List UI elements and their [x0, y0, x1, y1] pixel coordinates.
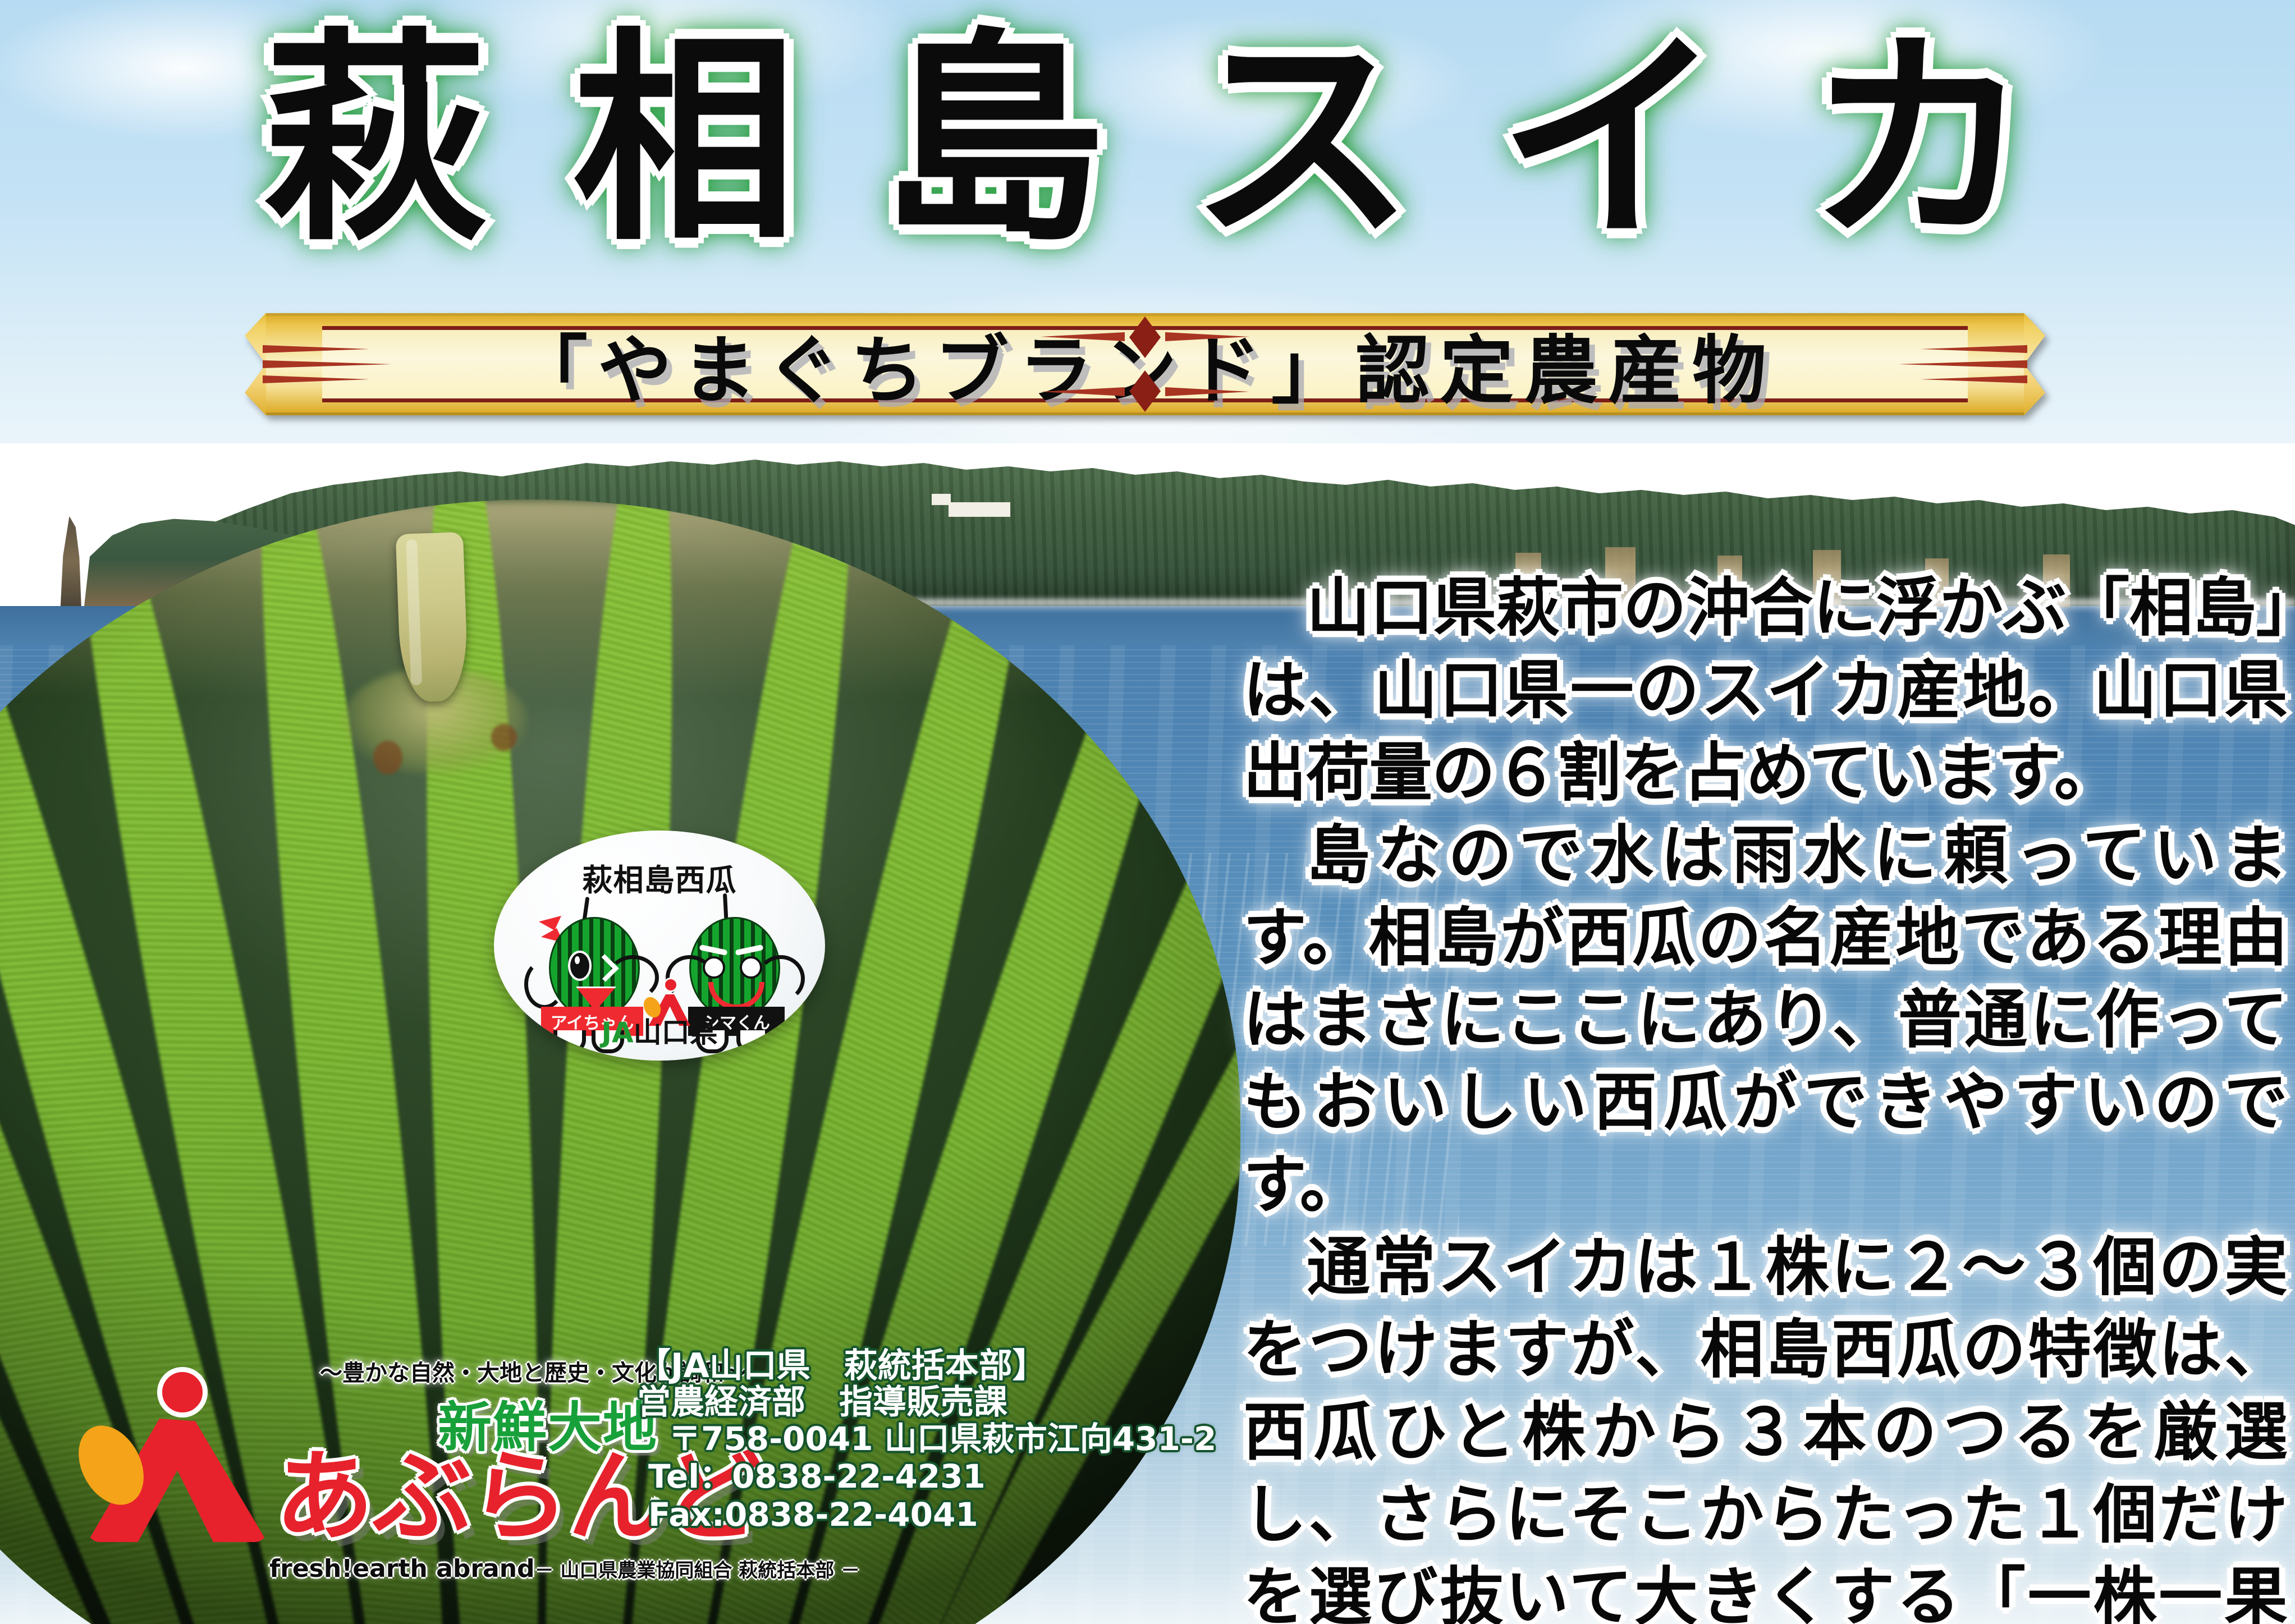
- mascot-eye: [703, 956, 725, 979]
- mascot-arm-right: [757, 955, 805, 1002]
- abrand-logo-block: ～豊かな自然・大地と歴史・文化が調和～ 新鮮大地 あぶらんど fresh!ear…: [84, 1347, 674, 1582]
- certification-ribbon: 「やまぐちブランド」認定農産物: [185, 313, 2105, 415]
- sticker-footer: JA山口県: [601, 1010, 717, 1050]
- body-paragraph-1: 山口県萩市の沖合に浮かぶ「相島」は、山口県一のスイカ産地。山口県出荷量の６割を占…: [1243, 567, 2287, 814]
- contact-block: 【JA山口県 萩統括本部】 営農経済部 指導販売課 〒758-0041 山口県萩…: [637, 1348, 1266, 1534]
- ja-logo-mark-large: [84, 1367, 269, 1563]
- mascot-leg: [736, 1030, 769, 1053]
- ja-dot-icon: [157, 1367, 208, 1417]
- title-char-4: ス: [1190, 27, 1414, 251]
- title-char-6: カ: [1807, 27, 2032, 251]
- abrand-english-sub: － 山口県農業協同組合 萩統括本部 －: [535, 1559, 860, 1582]
- mascot-leg: [553, 1030, 586, 1053]
- mascot-eye: [740, 956, 762, 979]
- sticker-pref-text: 山口県: [634, 1016, 718, 1049]
- mascot-arm-left: [524, 960, 565, 1009]
- contact-fax: Fax:0838-22-4041: [648, 1495, 1266, 1534]
- title-char-2: 相: [572, 27, 797, 251]
- body-copy: 山口県萩市の沖合に浮かぶ「相島」は、山口県一のスイカ産地。山口県出荷量の６割を占…: [1243, 567, 2287, 1624]
- product-sticker: 萩相島西瓜 アイちゃん: [494, 831, 825, 1061]
- contact-tel: Tel：0838-22-4231: [648, 1457, 1266, 1495]
- watermelon-scar: [491, 724, 517, 751]
- contact-line-1: 【JA山口県 萩統括本部】: [637, 1348, 1266, 1384]
- body-paragraph-2: 島なので水は雨水に頼っています。相島が西瓜の名産地である理由はまさにここにあり、…: [1243, 814, 2287, 1226]
- ja-dot-icon: [663, 978, 678, 992]
- sticker-title: 萩相島西瓜: [583, 855, 737, 900]
- contact-line-2: 営農経済部 指導販売課: [637, 1384, 1266, 1421]
- sticker-ja-text: JA: [601, 1016, 633, 1049]
- abrand-english: fresh!earth abrand: [269, 1554, 535, 1583]
- title-char-3: 島: [881, 27, 1106, 251]
- abrand-english-line: fresh!earth abrand－ 山口県農業協同組合 萩統括本部 －: [269, 1554, 860, 1583]
- poster-title: 萩 相 島 ス イ カ: [0, 4, 2295, 274]
- mascot-eye: [568, 951, 592, 981]
- title-char-5: イ: [1499, 27, 1723, 251]
- contact-address: 〒758-0041 山口県萩市江向431-2: [668, 1421, 1266, 1457]
- body-paragraph-3: 通常スイカは１株に２～３個の実をつけますが、相島西瓜の特徴は、西瓜ひと株から３本…: [1243, 1226, 2287, 1624]
- title-char-1: 萩: [264, 27, 488, 251]
- watermelon-scar: [373, 741, 402, 774]
- poster-root: 萩 相 島 ス イ カ: [0, 0, 2295, 1624]
